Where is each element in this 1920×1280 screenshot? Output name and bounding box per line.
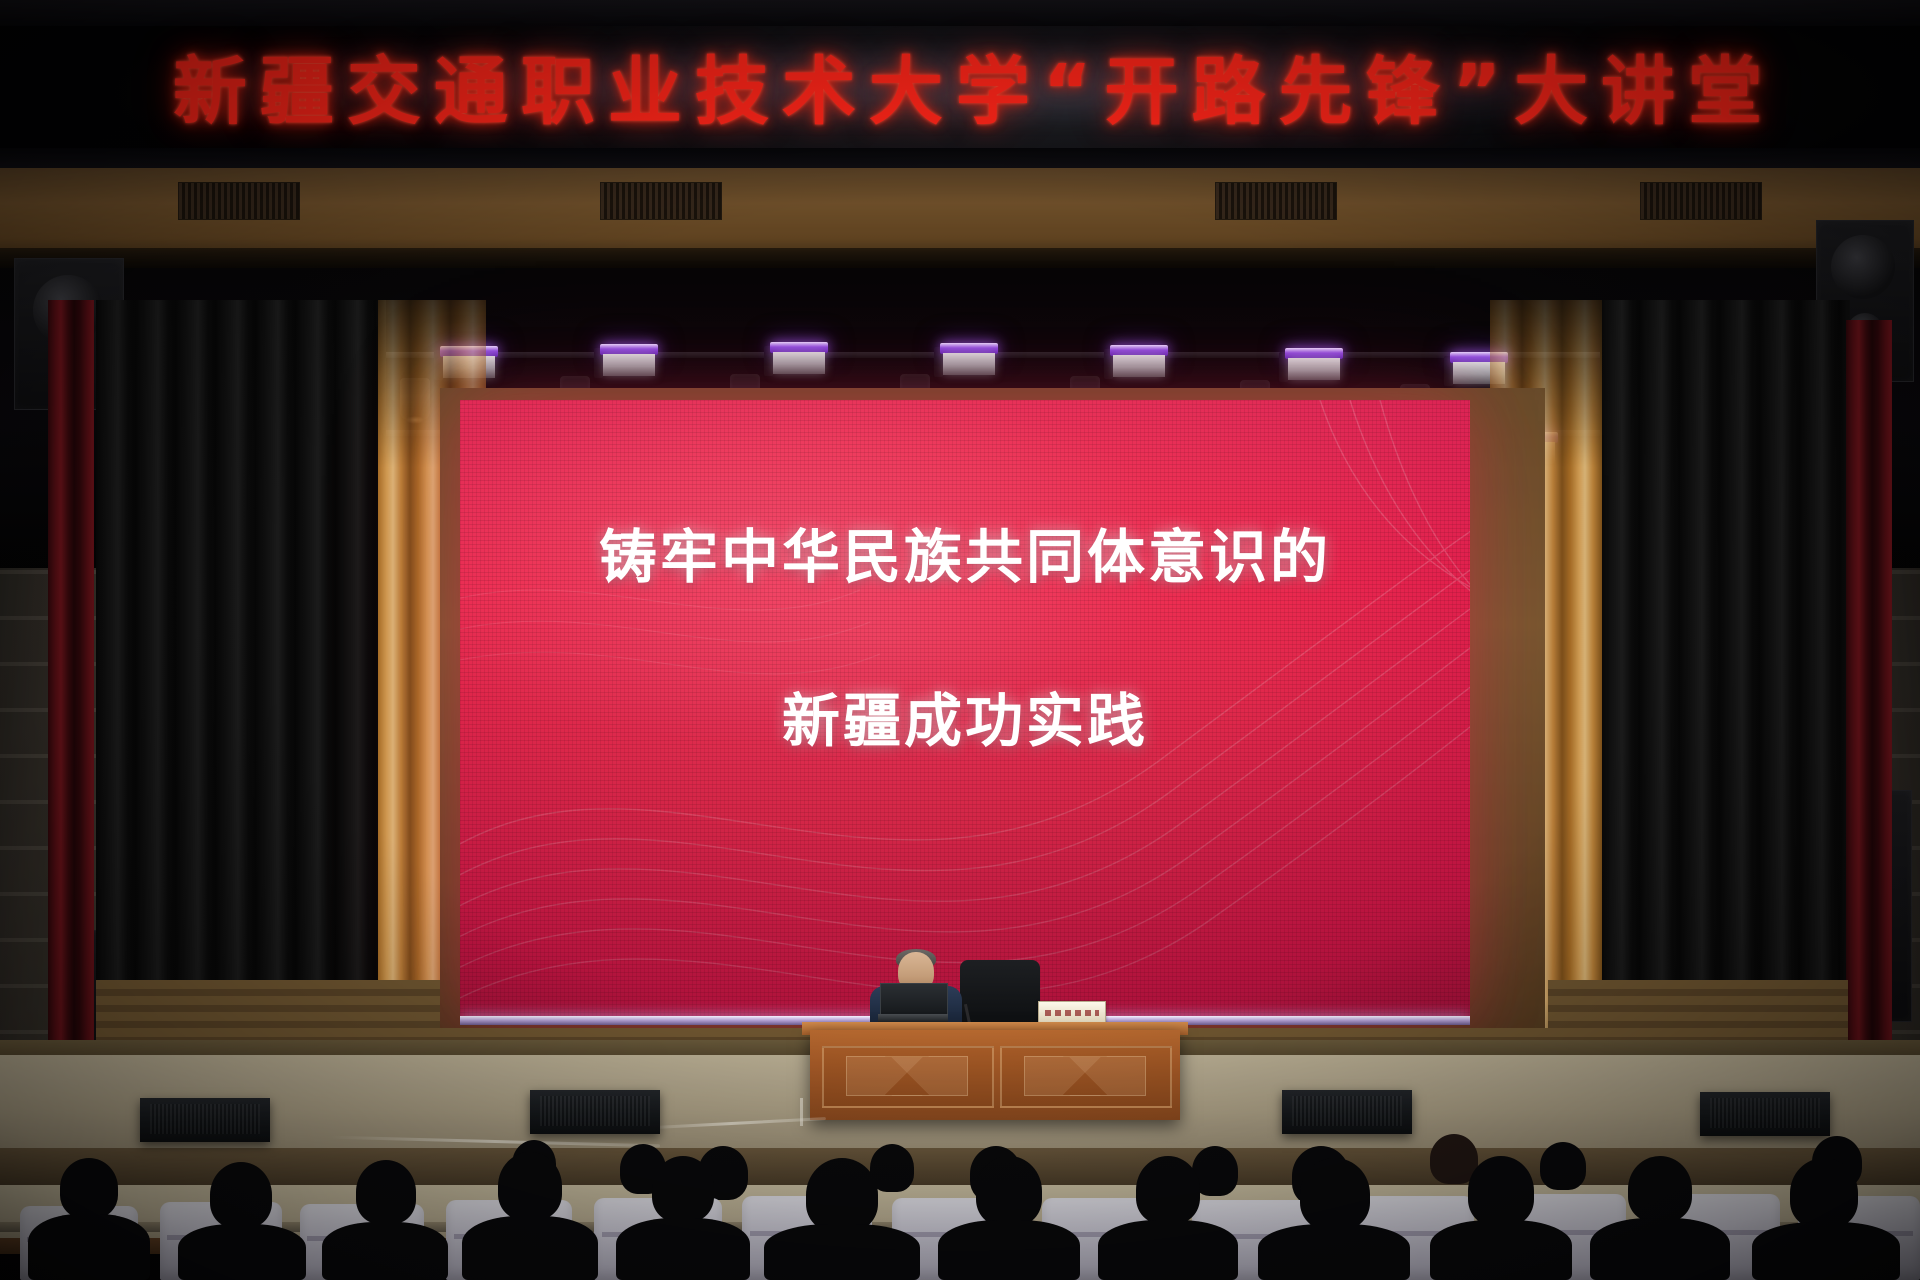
laptop-keyboard bbox=[878, 1014, 948, 1022]
floor-monitor-speaker bbox=[1700, 1092, 1830, 1136]
stage-curtain-black-right bbox=[1600, 300, 1850, 1090]
stage-curtain-red-right bbox=[1846, 320, 1892, 1080]
desk-panel-diamond-inlay bbox=[1024, 1056, 1146, 1096]
audience-area bbox=[0, 1160, 1920, 1280]
audience-shoulders bbox=[1430, 1220, 1572, 1280]
slide-title-line1: 铸牢中华民族共同体意识的 bbox=[460, 510, 1470, 594]
audience-head bbox=[1300, 1158, 1370, 1230]
audience-head bbox=[652, 1156, 714, 1222]
auditorium-photo: 新疆交通职业技术大学“开路先锋”大讲堂 bbox=[0, 0, 1920, 1280]
audience-shoulders bbox=[1098, 1220, 1238, 1280]
laptop-screen bbox=[880, 983, 948, 1017]
par-light bbox=[1285, 348, 1343, 384]
audience-head bbox=[356, 1160, 416, 1224]
audience-head bbox=[1790, 1158, 1858, 1228]
ceiling-vent-grille bbox=[178, 182, 300, 220]
audience-shoulders bbox=[1752, 1222, 1900, 1280]
led-marquee-banner: 新疆交通职业技术大学“开路先锋”大讲堂 bbox=[0, 0, 1920, 170]
par-light bbox=[600, 344, 658, 380]
audience-head bbox=[1628, 1156, 1692, 1222]
audience-shoulders bbox=[764, 1224, 920, 1280]
floor-monitor-speaker bbox=[1282, 1090, 1412, 1134]
audience-head bbox=[60, 1158, 118, 1218]
ceiling-vent-grille bbox=[600, 182, 722, 220]
par-light bbox=[940, 343, 998, 379]
marquee-title-text: 新疆交通职业技术大学“开路先锋”大讲堂 bbox=[0, 0, 1920, 170]
par-light bbox=[1110, 345, 1168, 381]
desk-panel-diamond-inlay bbox=[846, 1056, 968, 1096]
slide-title-block: 铸牢中华民族共同体意识的 新疆成功实践 bbox=[460, 510, 1470, 758]
floor-monitor-speaker bbox=[530, 1090, 660, 1134]
stage-cable-drop bbox=[800, 1098, 831, 1126]
led-presentation-screen: 铸牢中华民族共同体意识的 新疆成功实践 bbox=[460, 400, 1470, 1025]
audience-shoulders bbox=[322, 1222, 448, 1280]
audience-shoulders bbox=[1590, 1218, 1730, 1280]
audience-head bbox=[1136, 1156, 1200, 1224]
audience-shoulders bbox=[1258, 1224, 1410, 1280]
ceiling-vent-grille bbox=[1640, 182, 1762, 220]
audience-shoulders bbox=[28, 1214, 150, 1280]
presenter-chair bbox=[960, 960, 1040, 1026]
stage-curtain-red-left bbox=[48, 300, 94, 1130]
floor-monitor-speaker bbox=[140, 1098, 270, 1142]
speaker-cone bbox=[1831, 235, 1895, 299]
audience-head bbox=[498, 1152, 562, 1220]
audience-head bbox=[976, 1156, 1042, 1226]
audience-shoulders bbox=[462, 1216, 598, 1280]
par-light bbox=[770, 342, 828, 378]
audience-shoulders bbox=[178, 1224, 306, 1280]
audience-head bbox=[1468, 1156, 1534, 1226]
slide-title-line2: 新疆成功实践 bbox=[460, 674, 1470, 758]
audience-head bbox=[210, 1162, 272, 1228]
audience-shoulders bbox=[616, 1218, 750, 1280]
ceiling-vent-grille bbox=[1215, 182, 1337, 220]
marquee-frame-bottom bbox=[0, 148, 1920, 170]
audience-shoulders bbox=[938, 1220, 1080, 1280]
audience-head bbox=[1540, 1142, 1586, 1190]
audience-head bbox=[806, 1158, 878, 1232]
